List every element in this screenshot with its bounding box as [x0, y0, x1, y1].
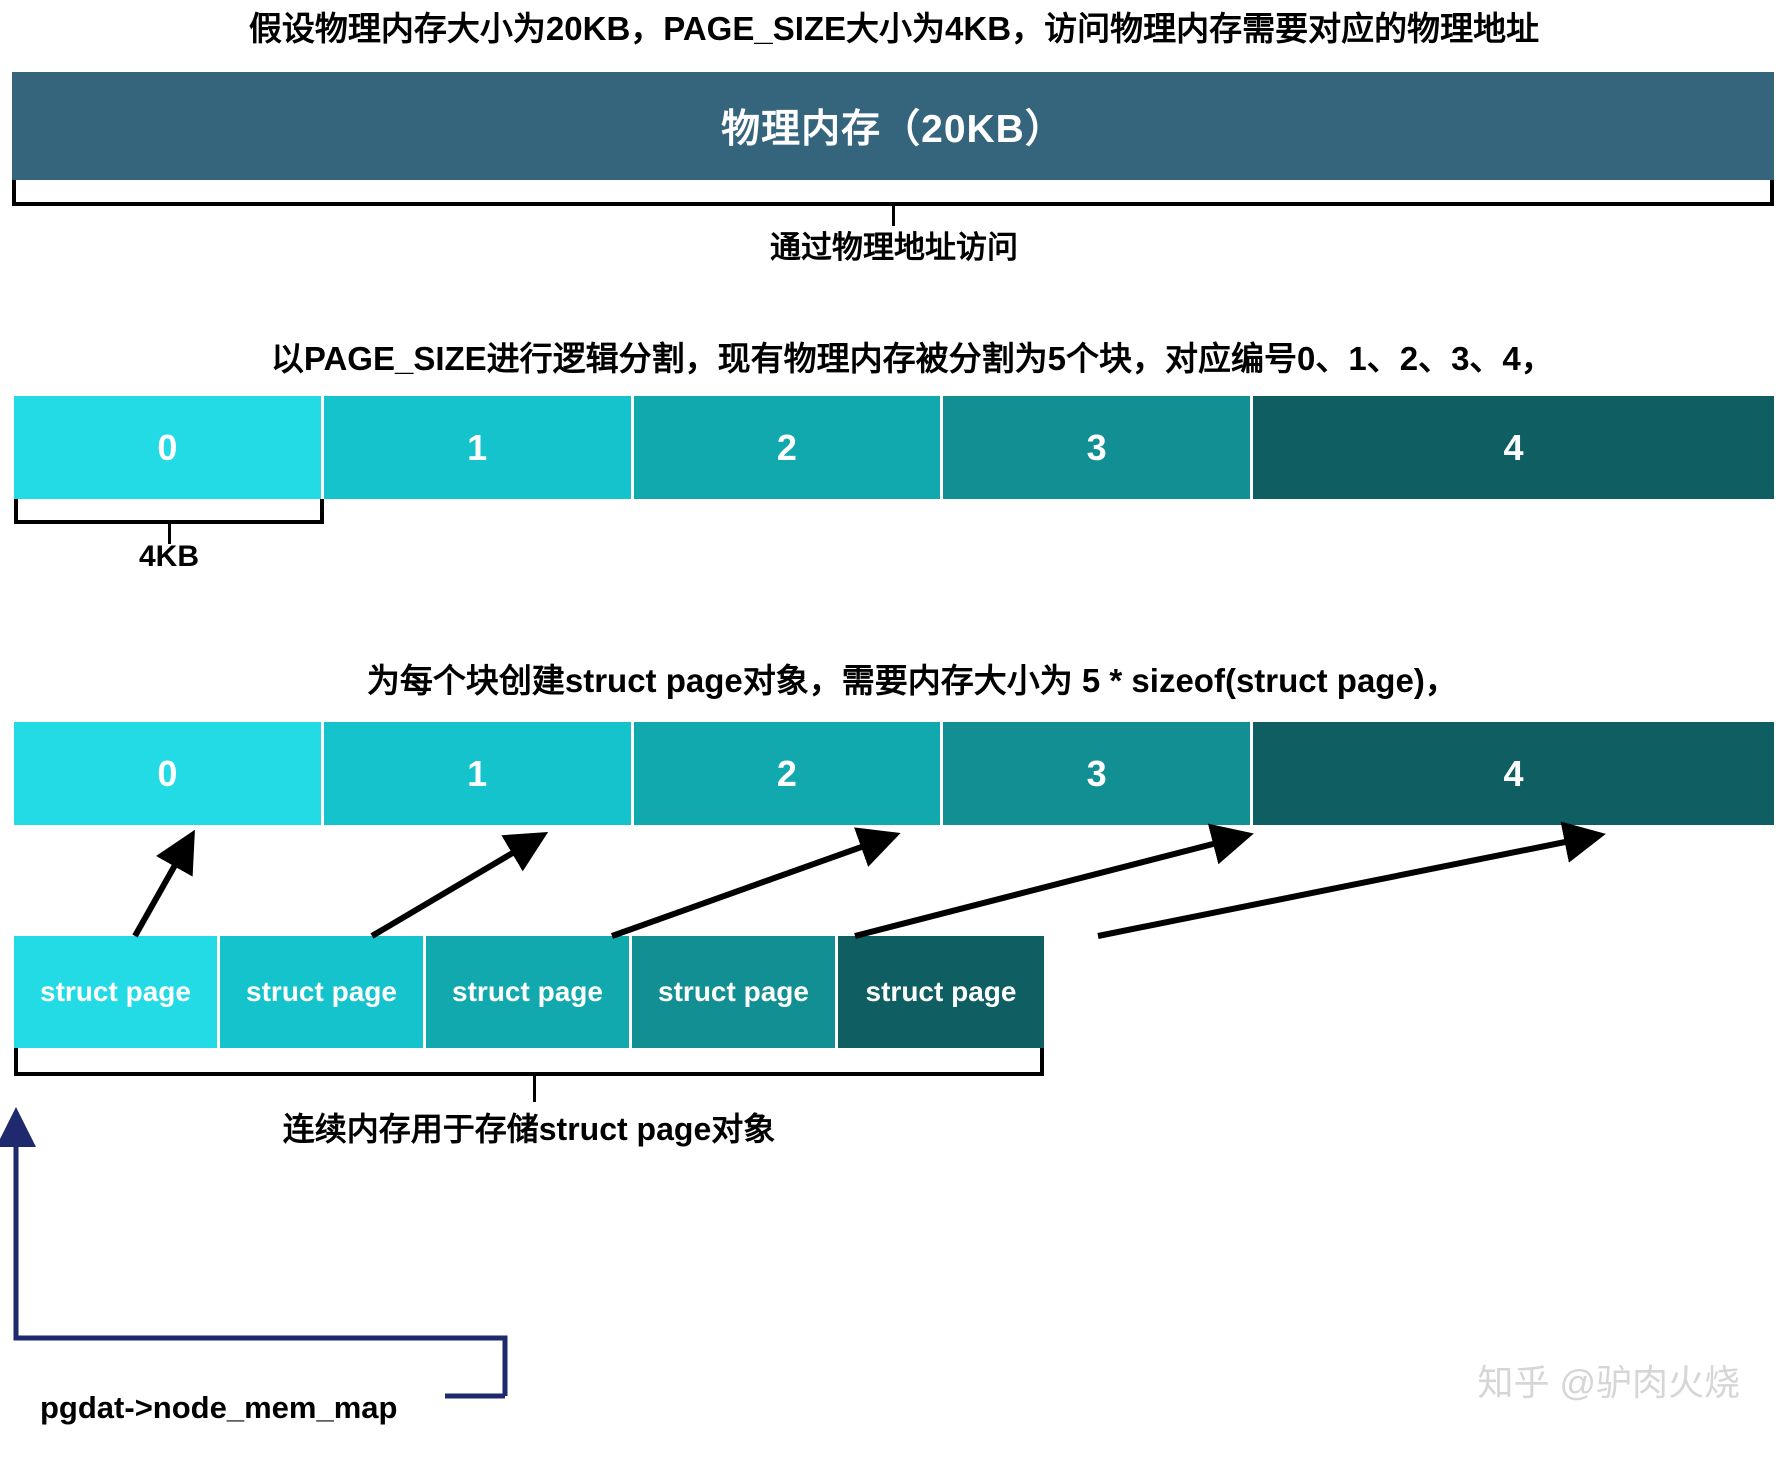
struct-page-box-label: struct page — [866, 976, 1017, 1008]
struct-page-box: struct page — [14, 936, 220, 1048]
pfn-block: 3 — [943, 396, 1253, 499]
page-block-label: 2 — [777, 753, 797, 795]
page-block-label: 4 — [1503, 753, 1523, 795]
struct-page-box: struct page — [632, 936, 838, 1048]
pfn-block: 4 — [1253, 396, 1774, 499]
page-block: 1 — [324, 722, 634, 825]
struct-page-box-label: struct page — [246, 976, 397, 1008]
pfn-block: 2 — [634, 396, 944, 499]
struct-page-bracket-label: 连续内存用于存储struct page对象 — [14, 1104, 1044, 1150]
struct-page-bracket — [14, 1048, 1044, 1076]
pfn-block: 0 — [14, 396, 324, 499]
caption-split-line1: 以PAGE_SIZE进行逻辑分割，现有物理内存被分割为5个块，对应编号0、1、2… — [271, 340, 1554, 377]
pgdat-node-mem-map-connector — [16, 1112, 505, 1396]
diagram-canvas: 假设物理内存大小为20KB，PAGE_SIZE大小为4KB，访问物理内存需要对应… — [0, 0, 1788, 1458]
struct-page-box-label: struct page — [40, 976, 191, 1008]
pfn-block-label: 2 — [777, 427, 797, 469]
page-block-label: 1 — [467, 753, 487, 795]
pfn-block-label: 0 — [157, 427, 177, 469]
struct-page-row: struct page struct page struct page stru… — [14, 936, 1044, 1048]
pfn-block-label: 1 — [467, 427, 487, 469]
struct-page-box: struct page — [838, 936, 1044, 1048]
physical-memory-bar: 物理内存（20KB） — [12, 72, 1774, 180]
physical-memory-bar-label: 物理内存（20KB） — [721, 98, 1065, 154]
physical-memory-bracket-label: 通过物理地址访问 — [0, 222, 1788, 267]
struct-page-box: struct page — [426, 936, 632, 1048]
physical-memory-bracket — [12, 180, 1774, 206]
page-block: 3 — [943, 722, 1253, 825]
page-size-bracket — [14, 499, 324, 524]
pfn-block-row: 0 1 2 3 4 — [14, 396, 1774, 499]
page-block-row: 0 1 2 3 4 — [14, 722, 1774, 825]
page-block: 2 — [634, 722, 944, 825]
struct-page-box-label: struct page — [658, 976, 809, 1008]
pfn-block-label: 4 — [1503, 427, 1523, 469]
caption-intro: 假设物理内存大小为20KB，PAGE_SIZE大小为4KB，访问物理内存需要对应… — [0, 8, 1788, 50]
caption-structpage-line1: 为每个块创建struct page对象，需要内存大小为 5 * sizeof(s… — [367, 662, 1458, 699]
pgdat-node-mem-map-label: pgdat->node_mem_map — [40, 1390, 397, 1426]
struct-page-box-label: struct page — [452, 976, 603, 1008]
pfn-block-label: 3 — [1087, 427, 1107, 469]
struct-page-box: struct page — [220, 936, 426, 1048]
page-block: 4 — [1253, 722, 1774, 825]
watermark: 知乎 @驴肉火烧 — [1477, 1354, 1740, 1406]
page-block-label: 3 — [1087, 753, 1107, 795]
page-block: 0 — [14, 722, 324, 825]
pfn-block: 1 — [324, 396, 634, 499]
page-size-bracket-label: 4KB — [14, 540, 324, 574]
struct-page-bracket-stem — [533, 1076, 536, 1102]
pgdat-connector-line — [16, 1112, 505, 1396]
page-block-label: 0 — [157, 753, 177, 795]
